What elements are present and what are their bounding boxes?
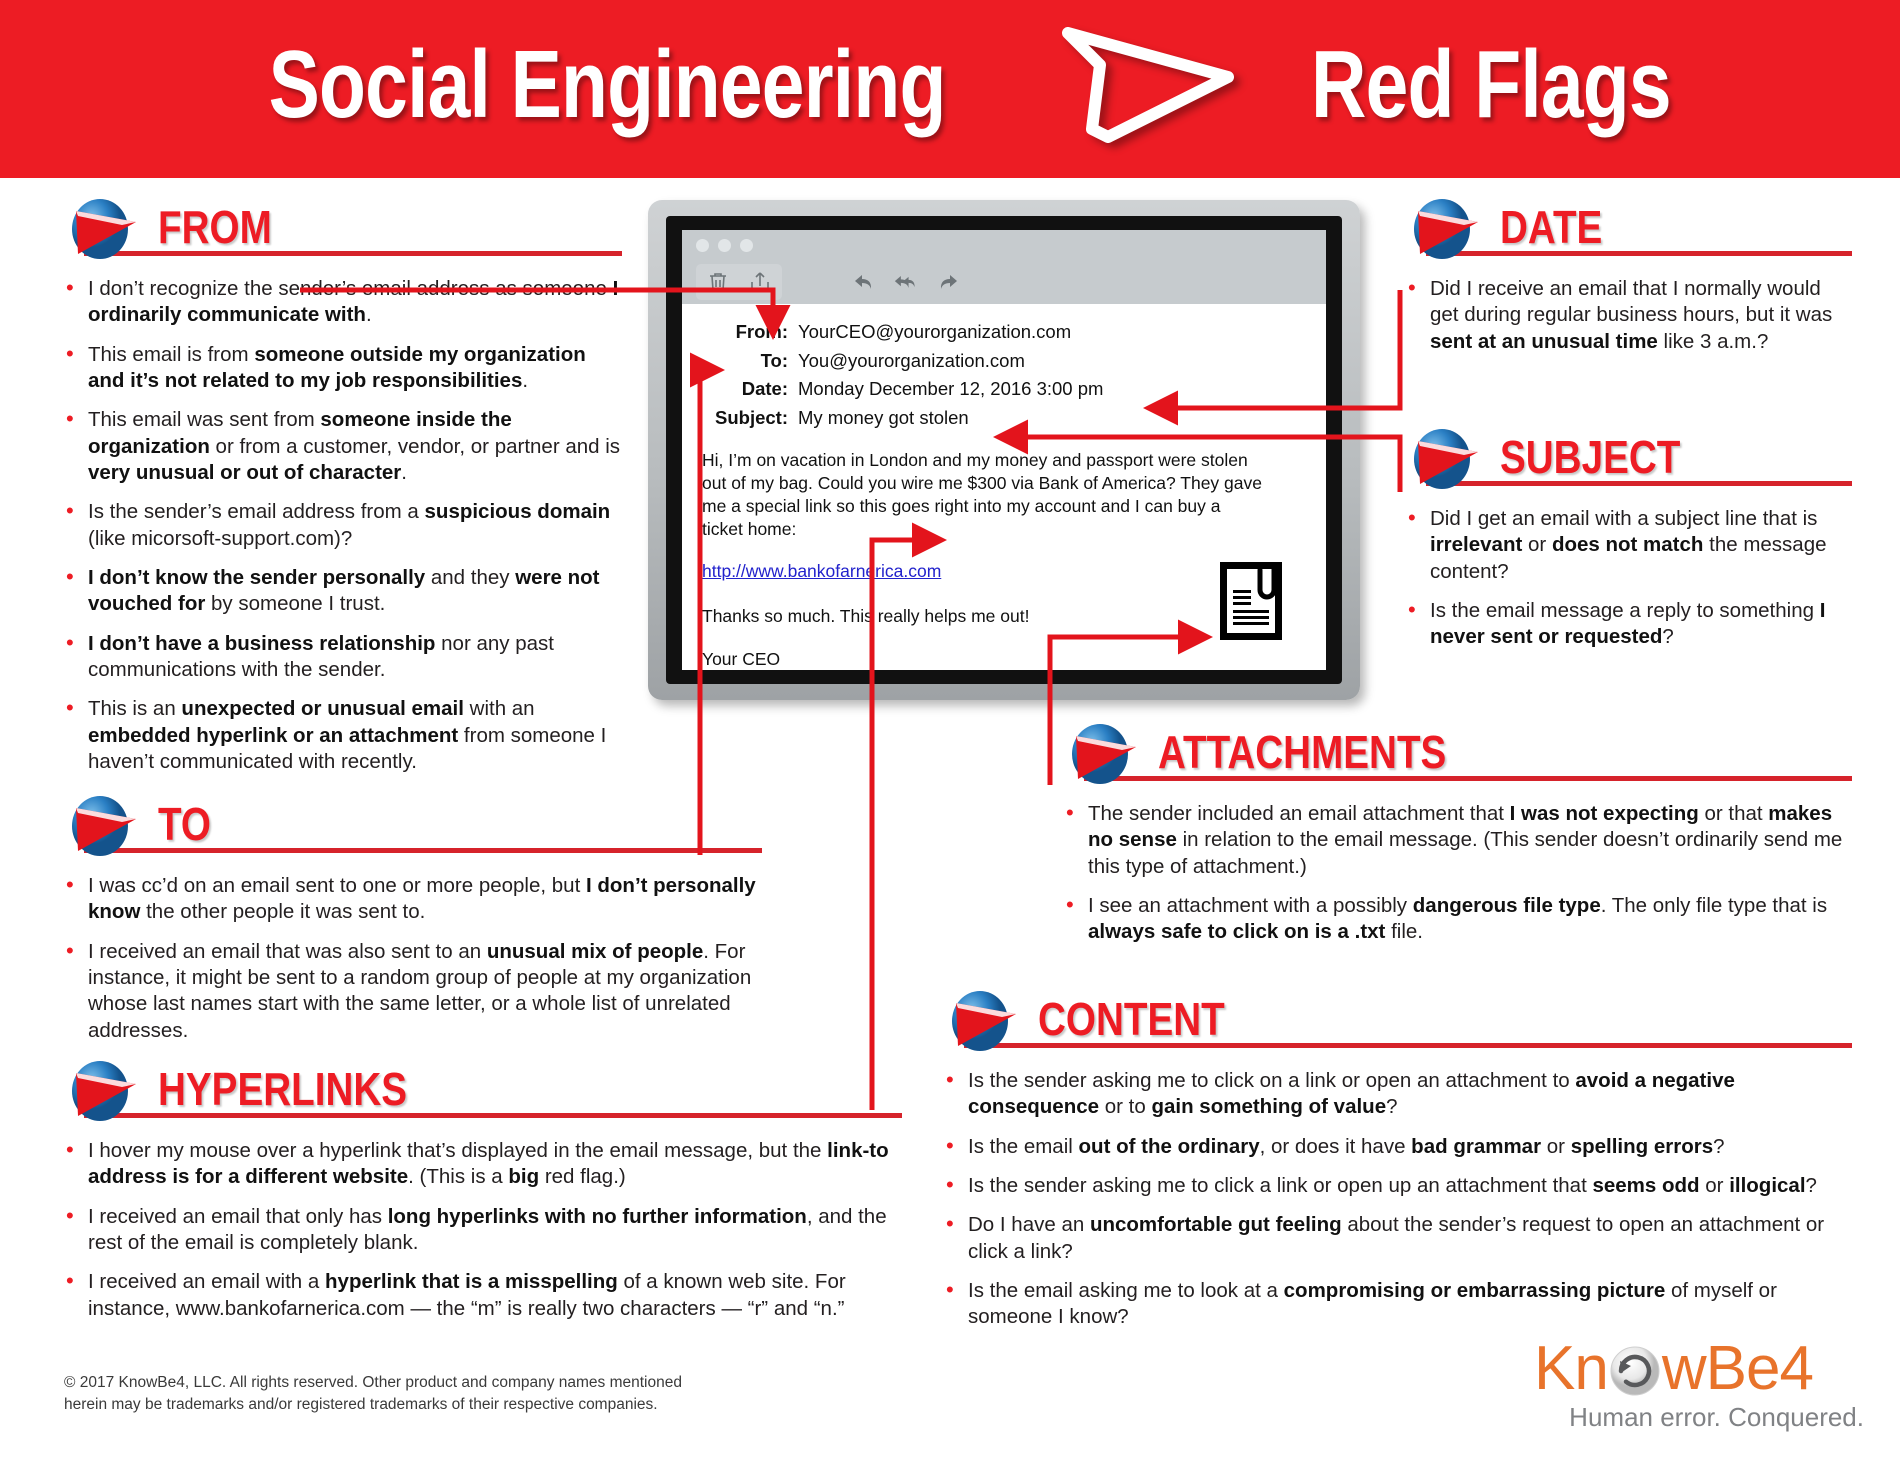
bullet-list-subject: Did I get an email with a subject line t… [1404,506,1852,651]
mail-toolbar [682,260,1326,304]
field-value: Monday December 12, 2016 3:00 pm [798,375,1103,404]
email-field-from: From: YourCEO@yourorganization.com [702,318,1300,347]
window-dot[interactable] [696,239,709,252]
bullet-item: I see an attachment with a possibly dang… [1062,893,1852,946]
toolbar-group-reply [842,264,970,300]
knowbe4-logo: Kn wBe4 Human error. Conquered. [1534,1338,1864,1448]
document-with-paperclip-icon[interactable] [1216,558,1292,644]
bullet-item: I received an email with a hyperlink tha… [62,1269,902,1322]
section-header-content: CONTENT [942,990,1852,1054]
section-title: CONTENT [1038,996,1225,1042]
flag-badge-icon [1062,723,1144,785]
email-field-to: To: You@yourorganization.com [702,347,1300,376]
bullet-item: Is the email message a reply to somethin… [1404,598,1852,651]
email-field-date: Date: Monday December 12, 2016 3:00 pm [702,375,1300,404]
mail-window: From: YourCEO@yourorganization.com To: Y… [682,230,1326,670]
bullet-item: Is the sender asking me to click a link … [942,1173,1852,1199]
mail-body: From: YourCEO@yourorganization.com To: Y… [682,304,1326,670]
email-closing-line: Thanks so much. This really helps me out… [702,606,1300,627]
page-title-left: Social Engineering [269,30,946,140]
field-value: You@yourorganization.com [798,347,1025,376]
share-icon[interactable] [748,270,772,294]
laptop-bezel: From: YourCEO@yourorganization.com To: Y… [666,216,1342,684]
logo-wordmark: Kn wBe4 [1534,1338,1864,1400]
infographic-page: Social Engineering Red Flags FROM I don’… [0,0,1900,1468]
section-header-attachments: ATTACHMENTS [1062,723,1852,787]
page-header: Social Engineering Red Flags [0,0,1900,178]
bullet-item: Do I have an uncomfortable gut feeling a… [942,1212,1852,1265]
email-signature: Your CEO [702,649,1300,670]
field-label: Date: [702,375,798,404]
section-title: ATTACHMENTS [1158,729,1446,775]
section-header-hyperlinks: HYPERLINKS [62,1060,902,1124]
flag-badge-icon [62,198,144,260]
bullet-item: I received an email that was also sent t… [62,939,762,1044]
bullet-item: This email was sent from someone inside … [62,407,622,486]
section-to: TO I was cc’d on an email sent to one or… [62,795,762,1057]
section-hyperlinks: HYPERLINKS I hover my mouse over a hyper… [62,1060,902,1335]
bullet-list-attachments: The sender included an email attachment … [1062,801,1852,946]
section-date: DATE Did I receive an email that I norma… [1404,198,1852,368]
section-subject: SUBJECT Did I get an email with a subjec… [1404,428,1852,664]
field-value: My money got stolen [798,404,969,433]
flag-badge-icon [1404,198,1486,260]
section-title: HYPERLINKS [158,1066,407,1112]
bullet-list-from: I don’t recognize the sender’s email add… [62,276,622,775]
toolbar-group-primary [696,264,782,300]
field-value: YourCEO@yourorganization.com [798,318,1071,347]
copyright-notice: © 2017 KnowBe4, LLC. All rights reserved… [64,1372,824,1417]
mail-titlebar [682,230,1326,260]
logo-text-post: wBe4 [1662,1334,1813,1403]
bullet-item: I don’t recognize the sender’s email add… [62,276,622,329]
reply-all-icon[interactable] [894,270,918,294]
bullet-item: Did I get an email with a subject line t… [1404,506,1852,585]
bullet-item: Is the email out of the ordinary, or doe… [942,1134,1852,1160]
email-field-subject: Subject: My money got stolen [702,404,1300,433]
flag-badge-icon [62,795,144,857]
field-label: To: [702,347,798,376]
bullet-list-to: I was cc’d on an email sent to one or mo… [62,873,762,1044]
bullet-item: I hover my mouse over a hyperlink that’s… [62,1138,902,1191]
bullet-item: Is the sender’s email address from a sus… [62,499,622,552]
section-attachments: ATTACHMENTS The sender included an email… [1062,723,1852,959]
bullet-item: I don’t know the sender personally and t… [62,565,622,618]
field-label: From: [702,318,798,347]
reply-icon[interactable] [852,270,876,294]
section-header-date: DATE [1404,198,1852,262]
section-title: DATE [1500,204,1602,250]
page-title-right: Red Flags [1311,30,1671,140]
flag-badge-icon [942,990,1024,1052]
window-control-dots[interactable] [696,239,753,252]
red-flag-pennant-icon [1048,25,1248,145]
bullet-list-date: Did I receive an email that I normally w… [1404,276,1852,355]
section-title: SUBJECT [1500,434,1680,480]
flag-badge-icon [62,1060,144,1122]
email-mockup: From: YourCEO@yourorganization.com To: Y… [648,200,1360,700]
bullet-item: This is an unexpected or unusual email w… [62,696,622,775]
logo-text-pre: Kn [1534,1334,1608,1403]
bullet-item: The sender included an email attachment … [1062,801,1852,880]
bullet-list-content: Is the sender asking me to click on a li… [942,1068,1852,1331]
bullet-item: Did I receive an email that I normally w… [1404,276,1852,355]
email-message-body: Hi, I’m on vacation in London and my mon… [702,449,1262,541]
phishing-link[interactable]: http://www.bankofarnerica.com [702,561,941,582]
bullet-list-hyperlinks: I hover my mouse over a hyperlink that’s… [62,1138,902,1322]
bullet-item: I received an email that only has long h… [62,1204,902,1257]
bullet-item: Is the sender asking me to click on a li… [942,1068,1852,1121]
field-label: Subject: [702,404,798,433]
section-header-to: TO [62,795,762,859]
copyright-line-1: © 2017 KnowBe4, LLC. All rights reserved… [64,1372,824,1394]
section-from: FROM I don’t recognize the sender’s emai… [62,198,622,788]
flag-badge-icon [1404,428,1486,490]
trash-icon[interactable] [706,270,730,294]
bullet-item: I don’t have a business relationship nor… [62,631,622,684]
bullet-item: I was cc’d on an email sent to one or mo… [62,873,762,926]
section-content: CONTENT Is the sender asking me to click… [942,990,1852,1344]
copyright-line-2: herein may be trademarks and/or register… [64,1394,824,1416]
logo-circle-arrow-icon [1608,1344,1662,1398]
window-dot[interactable] [740,239,753,252]
forward-icon[interactable] [936,270,960,294]
bullet-item: Is the email asking me to look at a comp… [942,1278,1852,1331]
section-header-subject: SUBJECT [1404,428,1852,492]
logo-tagline: Human error. Conquered. [1534,1402,1864,1433]
window-dot[interactable] [718,239,731,252]
section-title: FROM [158,204,272,250]
bullet-item: This email is from someone outside my or… [62,342,622,395]
section-title: TO [158,801,211,847]
section-header-from: FROM [62,198,622,262]
